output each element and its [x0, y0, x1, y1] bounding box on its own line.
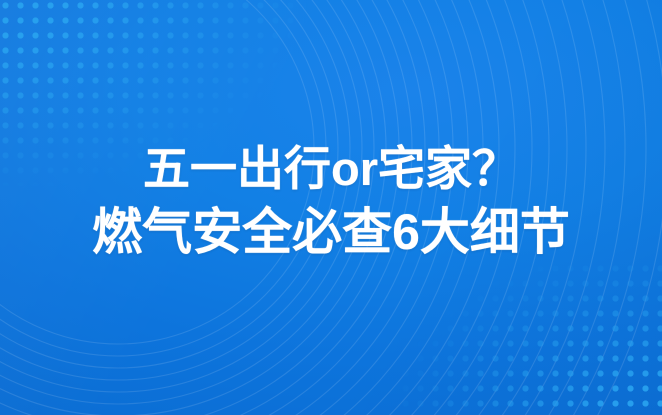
headline-line-2: 燃气安全必查6大细节 [0, 200, 662, 264]
dot-grid-bottom-right-icon [366, 259, 662, 415]
banner-headline: 五一出行or宅家？ 燃气安全必查6大细节 [0, 138, 662, 264]
promo-banner: 五一出行or宅家？ 燃气安全必查6大细节 [0, 0, 662, 415]
headline-line-1: 五一出行or宅家？ [0, 138, 662, 200]
